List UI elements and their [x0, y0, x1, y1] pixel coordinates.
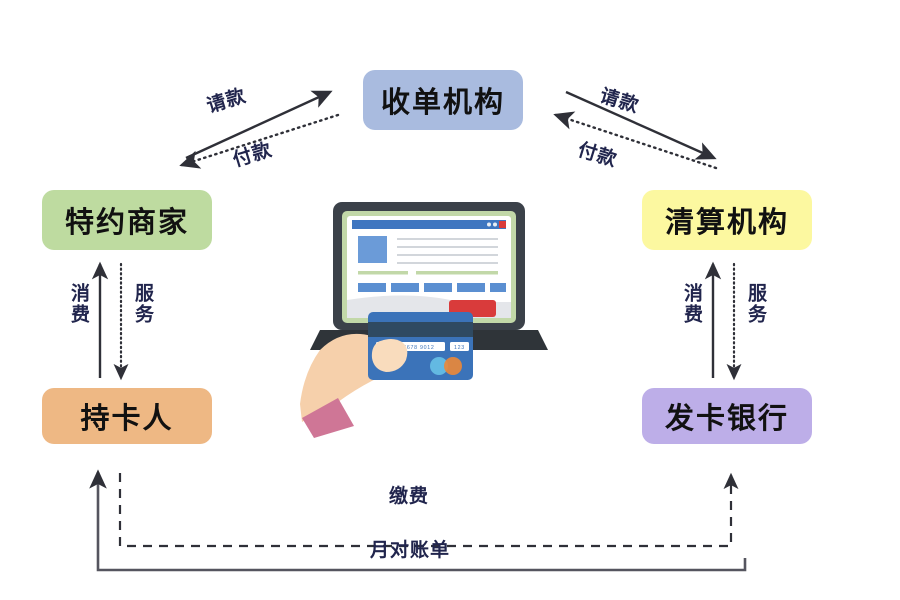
- content-accent-line: [358, 271, 408, 275]
- content-accent-line: [416, 271, 498, 275]
- entity-cardholder[interactable]: 持卡人: [42, 388, 212, 444]
- nav-button-icon: [490, 283, 506, 292]
- flow-label-service-left: 服务: [129, 283, 156, 325]
- flow-label-service-right: 服务: [742, 283, 769, 325]
- content-text-line: [397, 246, 498, 248]
- entity-merchant[interactable]: 特约商家: [42, 190, 212, 250]
- entity-acquirer[interactable]: 收单机构: [363, 70, 523, 130]
- window-close-icon: [499, 221, 506, 228]
- entity-cardholder-label: 持卡人: [80, 395, 173, 437]
- flow-label-payment-left: 付款: [229, 135, 275, 173]
- content-image-placeholder-icon: [358, 236, 387, 263]
- content-text-line: [397, 238, 498, 240]
- entity-acquirer-label: 收单机构: [381, 79, 505, 121]
- flow-label-request-right: 请款: [597, 81, 643, 119]
- entity-clearing-label: 清算机构: [665, 199, 789, 241]
- diagram-canvas: 收单机构 特约商家 清算机构 持卡人 发卡银行 请款 付款 请款 付款 消费 服…: [0, 0, 900, 600]
- flow-label-payment-right: 付款: [575, 135, 621, 173]
- entity-clearing[interactable]: 清算机构: [642, 190, 812, 250]
- laptop-card-payment-illustration: 1234 5678 9012 123: [290, 190, 590, 450]
- window-dot-icon: [493, 223, 497, 227]
- entity-merchant-label: 特约商家: [65, 199, 189, 241]
- flow-label-statement: 月对账单: [370, 535, 450, 562]
- flow-label-request-left: 请款: [203, 81, 249, 119]
- nav-button-icon: [457, 283, 485, 292]
- window-dot-icon: [487, 223, 491, 227]
- nav-button-icon: [424, 283, 452, 292]
- flow-label-fee: 缴费: [389, 481, 429, 508]
- flow-label-consume-left: 消费: [65, 283, 92, 325]
- flow-label-consume-right: 消费: [678, 283, 705, 325]
- credit-card-magstripe-icon: [368, 322, 473, 337]
- card-brand-circle-right-icon: [444, 357, 462, 375]
- content-text-line: [397, 262, 498, 264]
- nav-button-icon: [358, 283, 386, 292]
- browser-titlebar-icon: [352, 220, 506, 229]
- nav-button-icon: [391, 283, 419, 292]
- entity-issuer[interactable]: 发卡银行: [642, 388, 812, 444]
- credit-card-cvv-text: 123: [454, 345, 465, 351]
- content-text-line: [397, 254, 498, 256]
- entity-issuer-label: 发卡银行: [665, 395, 789, 437]
